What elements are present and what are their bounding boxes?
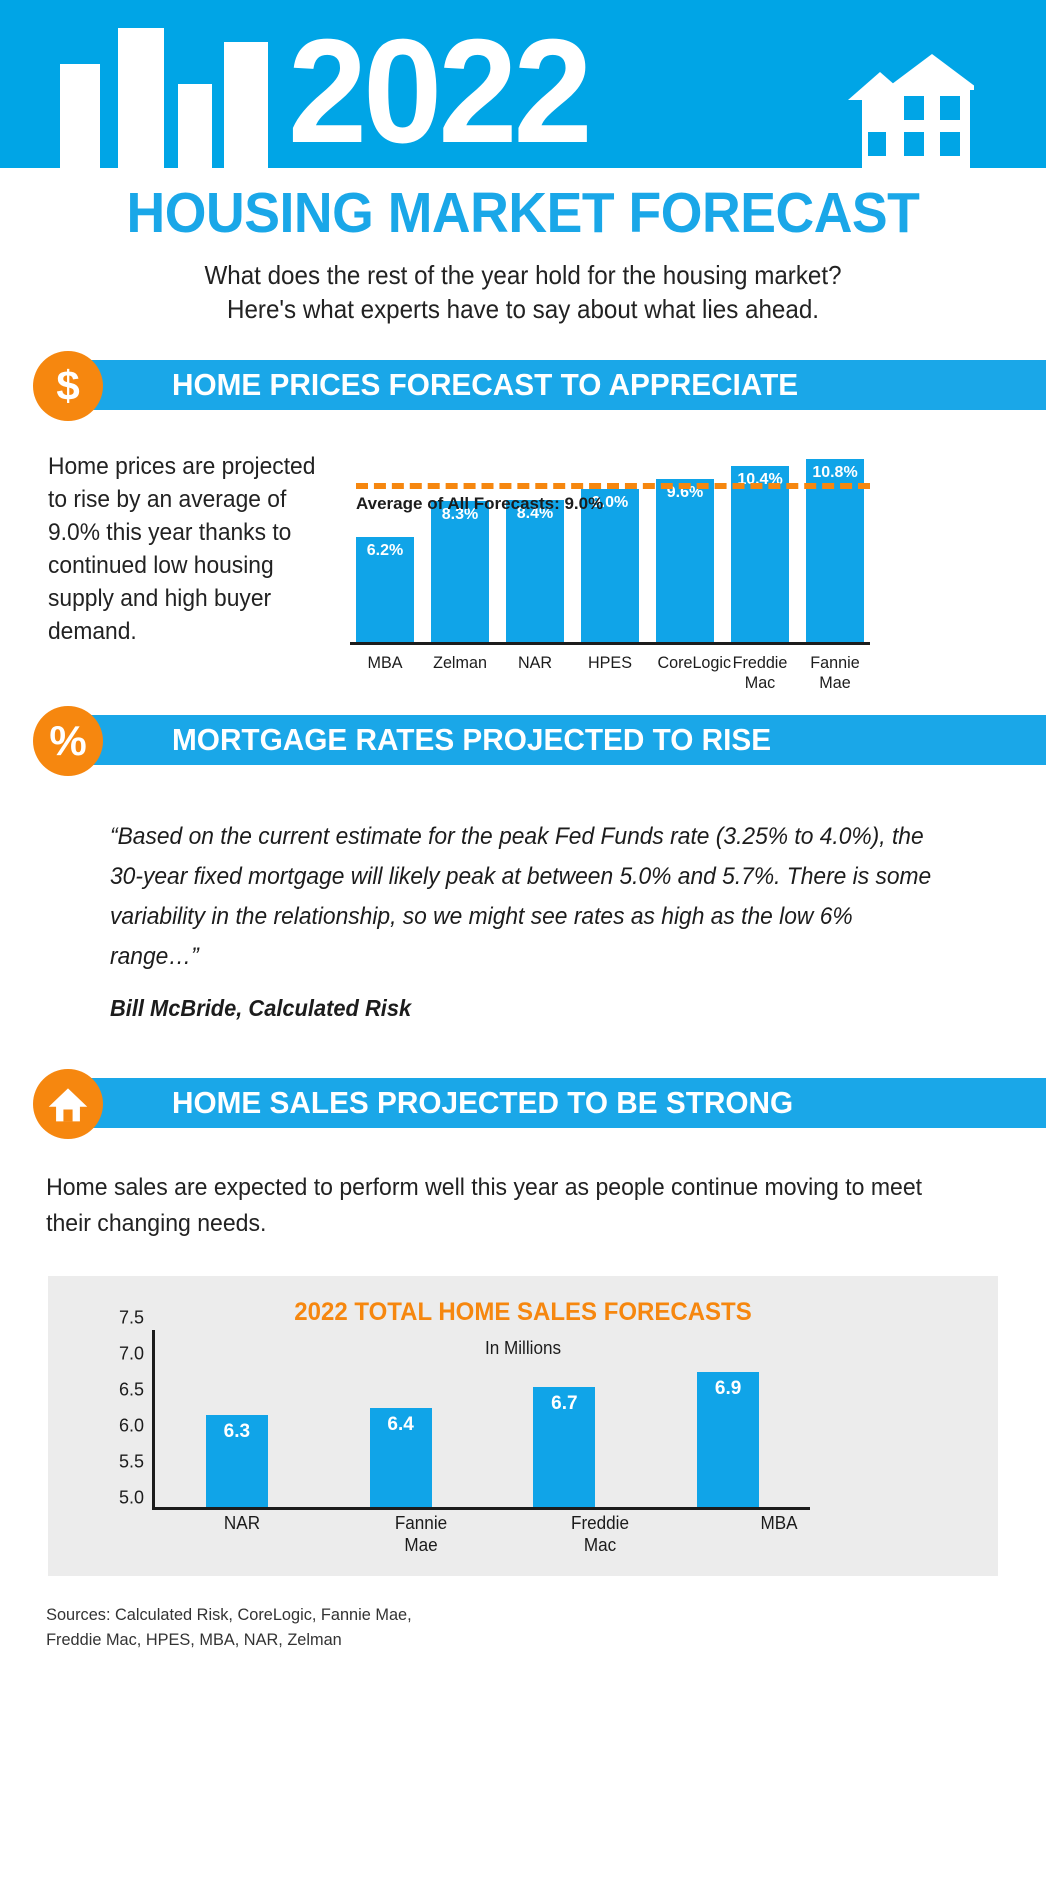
section-1-body: Home prices are projected to rise by an … [0,450,1046,675]
quote-attribution: Bill McBride, Calculated Risk [110,995,942,1022]
home-icon [33,1069,103,1139]
chart-x-axis-labels: MBAZelmanNARHPESCoreLogicFreddie MacFann… [350,645,870,693]
page-subtitle: What does the rest of the year hold for … [37,258,1010,326]
chart-bar-value: 6.2% [356,542,414,560]
chart-bar: 9.6% [656,479,714,642]
chart-x-label: Freddie Mac [732,653,787,693]
chart-bar-value: 6.7 [533,1393,595,1415]
chart-2-y-tick: 7.5 [119,1308,144,1329]
chart-bar-column: 6.9 [697,1330,759,1507]
chart-2-x-label: MBA [741,1512,817,1556]
chart-bar: 6.3 [206,1415,268,1507]
chart-x-label: MBA [357,653,412,693]
house-icon [744,50,974,168]
percent-glyph: % [49,720,86,762]
section-header-home-sales: HOME SALES PROJECTED TO BE STRONG [0,1078,1046,1136]
chart-bar-value: 6.9 [697,1378,759,1400]
sources-line-1: Sources: Calculated Risk, CoreLogic, Fan… [46,1602,958,1627]
chart-x-label: NAR [507,653,562,693]
subtitle-line-1: What does the rest of the year hold for … [37,258,1010,292]
chart-bar-column: 8.4% [506,500,564,642]
dollar-glyph: $ [56,365,79,407]
chart-x-label: CoreLogic [657,653,712,693]
section-2-title: MORTGAGE RATES PROJECTED TO RISE [172,722,771,758]
chart-bar-column: 6.7 [533,1330,595,1507]
percent-icon: % [33,706,103,776]
chart-2-y-tick: 7.0 [119,1344,144,1365]
chart-bar-column: 8.3% [431,501,489,642]
bar-chart-icon [60,28,290,168]
chart-bar-column: 6.2% [356,537,414,642]
chart-plot-area: 6.2%8.3%8.4%9.0%9.6%10.4%10.8% [350,450,870,645]
section-header-home-prices: HOME PRICES FORECAST TO APPRECIATE $ [0,360,1046,418]
sources-footer: Sources: Calculated Risk, CoreLogic, Fan… [0,1576,1004,1676]
chart-bar: 8.4% [506,500,564,642]
total-home-sales-chart: 2022 TOTAL HOME SALES FORECASTS In Milli… [48,1276,998,1576]
chart-bar-column: 9.6% [656,479,714,642]
chart-bar-value: 10.8% [806,464,864,482]
home-price-appreciation-chart: Average of All Forecasts: 9.0% 6.2%8.3%8… [350,450,870,675]
chart-bar: 8.3% [431,501,489,642]
chart-bar-value: 6.3 [206,1421,268,1443]
average-forecast-annotation: Average of All Forecasts: 9.0% [356,494,603,514]
chart-bar-value: 6.4 [370,1414,432,1436]
chart-2-y-tick: 6.5 [119,1380,144,1401]
chart-2-y-axis: 7.57.06.56.05.55.0 [106,1330,152,1510]
chart-bar: 6.2% [356,537,414,642]
section-3-title: HOME SALES PROJECTED TO BE STRONG [172,1085,793,1121]
section-3-paragraph: Home sales are expected to perform well … [0,1136,1004,1242]
dollar-icon: $ [33,351,103,421]
section-1-paragraph: Home prices are projected to rise by an … [48,450,324,675]
chart-2-y-tick: 6.0 [119,1416,144,1437]
chart-2-x-label: FreddieMac [562,1512,638,1556]
chart-bar: 6.9 [697,1372,759,1507]
chart-2-x-axis-labels: NARFannieMaeFreddieMacMBA [152,1512,868,1556]
chart-2-y-tick: 5.0 [119,1488,144,1509]
chart-2-y-tick: 5.5 [119,1452,144,1473]
chart-x-label: Zelman [432,653,487,693]
hero-year: 2022 [288,18,589,166]
expert-quote: “Based on the current estimate for the p… [110,817,942,977]
chart-bar: 6.7 [533,1387,595,1507]
page-title: HOUSING MARKET FORECAST [31,182,1014,244]
section-header-mortgage-rates: MORTGAGE RATES PROJECTED TO RISE % [0,715,1046,773]
chart-x-label: Fannie Mae [807,653,862,693]
chart-bar-column: 10.4% [731,466,789,642]
chart-bar: 6.4 [370,1408,432,1507]
chart-bar-column: 6.3 [206,1330,268,1507]
chart-2-x-label: NAR [204,1512,280,1556]
section-1-title: HOME PRICES FORECAST TO APPRECIATE [172,367,798,403]
section-2-body: “Based on the current estimate for the p… [0,773,1046,1022]
chart-2-x-label: FannieMae [383,1512,459,1556]
sources-line-2: Freddie Mac, HPES, MBA, NAR, Zelman [46,1627,958,1652]
hero-banner: 2022 [0,0,1046,168]
chart-bar: 10.4% [731,466,789,642]
chart-2-plot-area: 6.36.46.76.9 [152,1330,810,1510]
chart-x-label: HPES [582,653,637,693]
average-reference-line [356,483,870,489]
title-block: HOUSING MARKET FORECAST What does the re… [0,168,1046,326]
chart-2-title: 2022 TOTAL HOME SALES FORECASTS [67,1276,979,1327]
chart-bar-column: 6.4 [370,1330,432,1507]
subtitle-line-2: Here's what experts have to say about wh… [37,292,1010,326]
